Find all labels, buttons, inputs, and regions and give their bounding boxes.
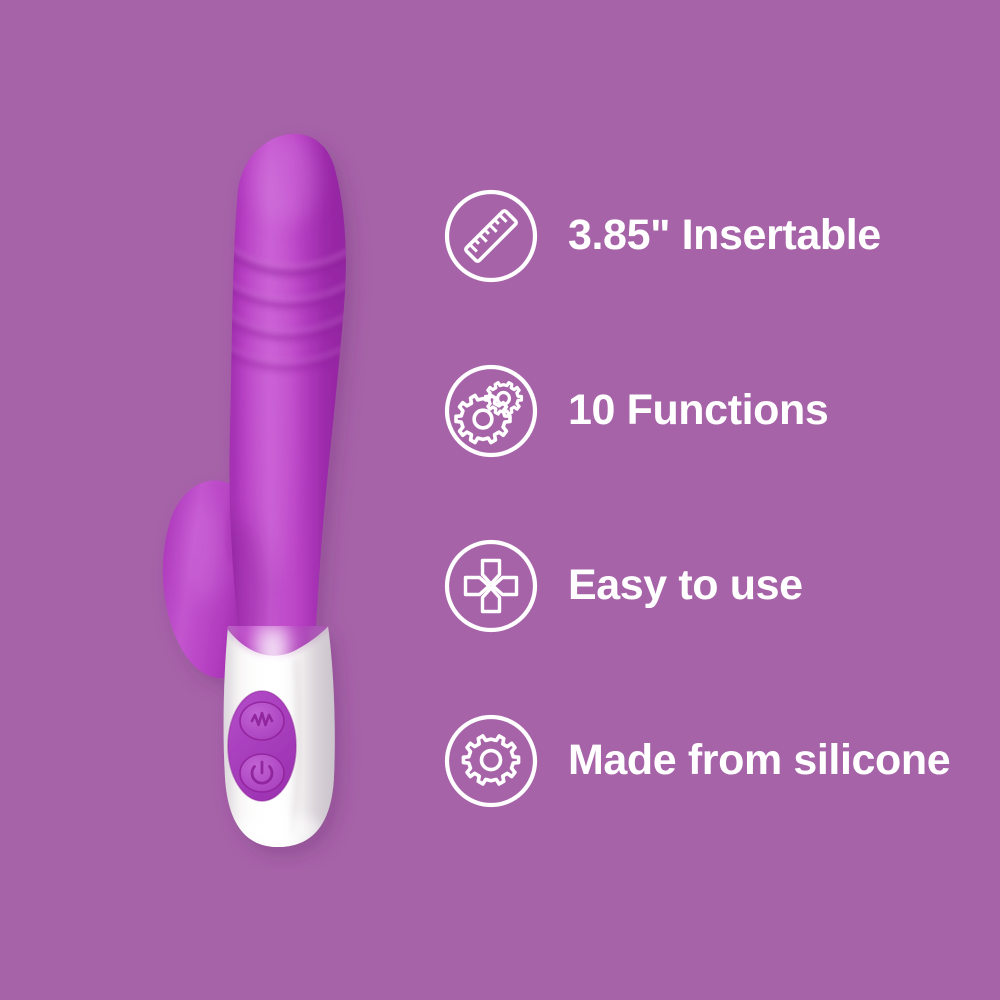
feature-label-insertable: 3.85" Insertable (568, 180, 881, 292)
product-image (120, 70, 440, 870)
ruler-icon (444, 189, 538, 283)
product-feature-card: 3.85" Insertable (0, 0, 1000, 1000)
feature-row-functions: 10 Functions (436, 355, 996, 530)
feature-row-silicone: Made from silicone (436, 705, 996, 880)
feature-list: 3.85" Insertable (436, 180, 996, 880)
feature-row-insertable: 3.85" Insertable (436, 180, 996, 355)
two-gears-icon (444, 364, 538, 458)
gear-icon (444, 714, 538, 808)
product-mode-button (240, 702, 284, 740)
product-part-button-pad (228, 691, 296, 801)
product-power-button (240, 754, 284, 792)
feature-row-easy-to-use: Easy to use (436, 530, 996, 705)
feature-label-functions: 10 Functions (568, 355, 828, 467)
dpad-icon (444, 539, 538, 633)
feature-label-silicone: Made from silicone (568, 705, 950, 817)
feature-label-easy-to-use: Easy to use (568, 530, 803, 642)
